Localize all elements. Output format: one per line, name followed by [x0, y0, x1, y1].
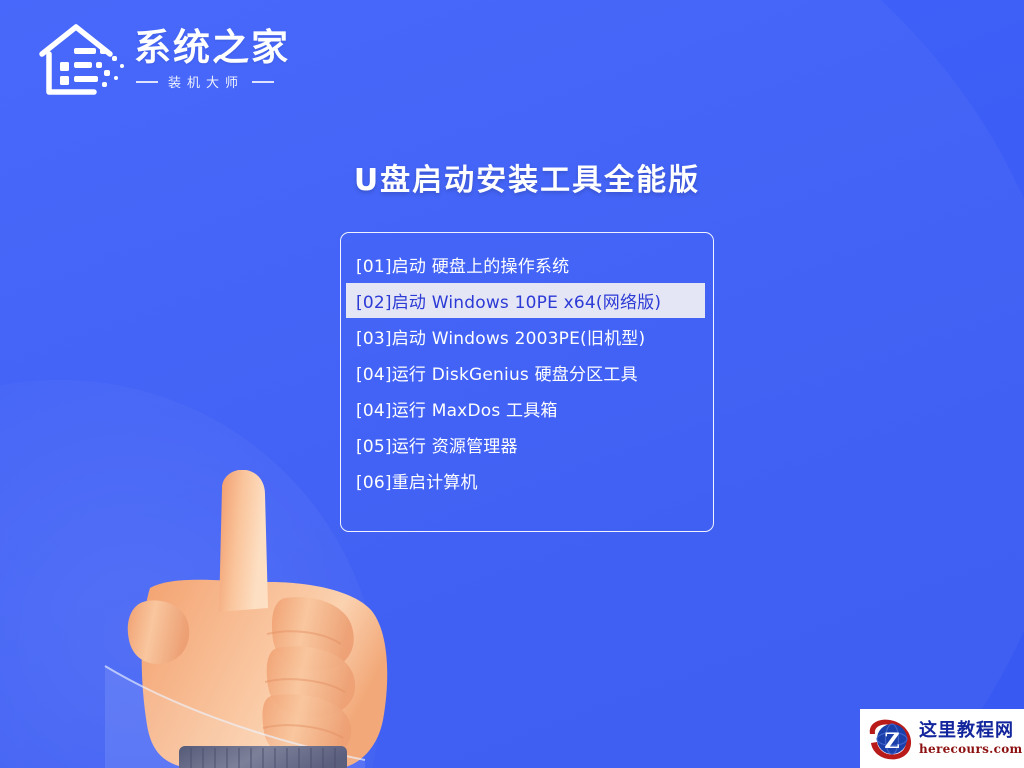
herecours-z-logo-icon: Z [866, 716, 916, 762]
brand-name: 系统之家 [134, 29, 290, 68]
boot-menu-item-05[interactable]: [05]运行 资源管理器 [341, 427, 713, 462]
site-watermark: Z 这里教程网 herecours.com [860, 709, 1024, 768]
brand-logo: 系统之家 装机大师 [36, 14, 290, 106]
boot-menu-item-02[interactable]: [02]启动 Windows 10PE x64(网络版) [346, 283, 705, 318]
svg-text:Z: Z [884, 728, 899, 753]
boot-menu-item-01[interactable]: [01]启动 硬盘上的操作系统 [341, 247, 713, 282]
boot-menu-item-04-diskgenius[interactable]: [04]运行 DiskGenius 硬盘分区工具 [341, 355, 713, 390]
boot-menu-item-04-maxdos[interactable]: [04]运行 MaxDos 工具箱 [341, 391, 713, 426]
dash-left-decoration [136, 81, 158, 83]
watermark-site-name-en: herecours.com [919, 742, 1023, 756]
boot-menu-item-03[interactable]: [03]启动 Windows 2003PE(旧机型) [341, 319, 713, 354]
brand-subtitle: 装机大师 [168, 72, 244, 91]
watermark-text: 这里教程网 herecours.com [919, 721, 1023, 756]
dash-right-decoration [252, 81, 274, 83]
watermark-site-name-cn: 这里教程网 [919, 721, 1023, 741]
brand-subtitle-row: 装机大师 [134, 72, 290, 91]
page-title: U盘启动安装工具全能版 [0, 155, 1024, 199]
brand-wordmark: 系统之家 装机大师 [134, 29, 290, 92]
pointing-hand-illustration [95, 470, 425, 768]
house-logo-icon [36, 18, 128, 102]
